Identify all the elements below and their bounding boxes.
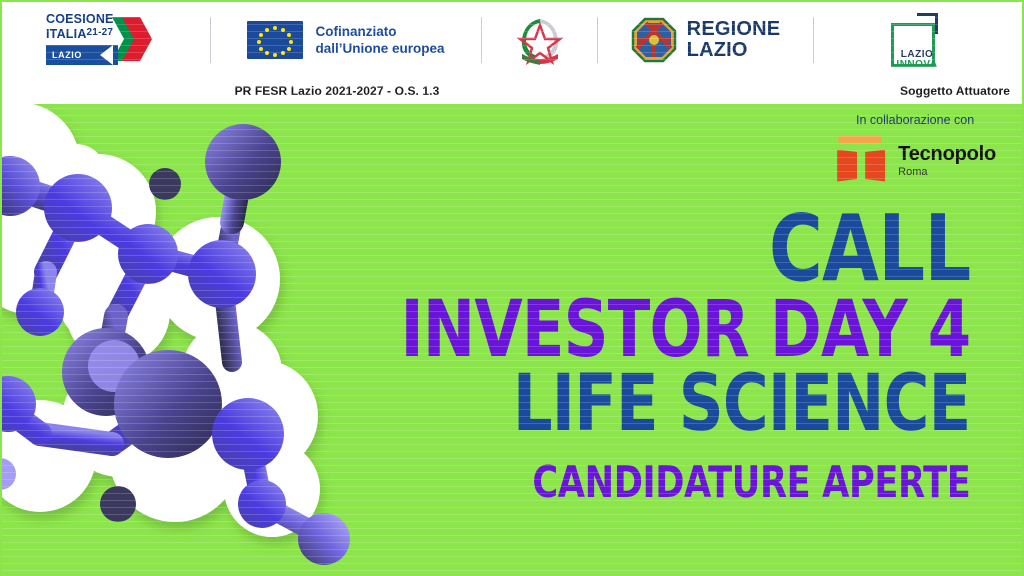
logo-repubblica-italiana <box>482 0 597 80</box>
eu-line2: dall’Unione europea <box>315 40 444 57</box>
tecnopolo-city: Roma <box>898 166 996 179</box>
headline-line-life: LIFE SCIENCE <box>400 368 970 441</box>
tecnopolo-left-shape <box>837 150 857 182</box>
repubblica-emblem-icon <box>516 12 564 68</box>
tecnopolo-mark-icon <box>834 136 890 182</box>
regione-lazio-line1: REGIONE <box>687 19 781 40</box>
headline-block: CALL INVESTOR DAY 4 LIFE SCIENCE CANDIDA… <box>258 206 970 504</box>
headline-line-call: CALL <box>400 206 970 292</box>
collaboration-block: In collaborazione con Tecnopolo Roma <box>834 114 996 182</box>
lazio-innova-bracket-icon <box>917 13 938 34</box>
logo-coesione-italia: COESIONE ITALIA21-27 LAZIO <box>0 0 210 80</box>
coesione-line2: ITALIA <box>46 27 87 41</box>
coesione-arrow-icon <box>100 45 113 65</box>
actor-caption: Soggetto Attuatore <box>900 84 1010 98</box>
coesione-chevron-red-icon <box>120 15 154 63</box>
regione-lazio-wordmark: REGIONE LAZIO <box>687 19 781 61</box>
logo-cofinanziato-ue: Cofinanziato dall’Unione europea <box>211 0 481 80</box>
regione-lazio-shield-icon <box>631 17 677 63</box>
programme-caption: PR FESR Lazio 2021-2027 - O.S. 1.3 <box>0 84 674 98</box>
call-banner: CALL INVESTOR DAY 4 LIFE SCIENCE CANDIDA… <box>0 0 1024 576</box>
logo-regione-lazio: REGIONE LAZIO <box>598 0 813 80</box>
headline-line-candidature: CANDIDATURE APERTE <box>400 463 970 504</box>
institutional-logo-bar: COESIONE ITALIA21-27 LAZIO <box>0 0 1024 104</box>
eu-flag-icon <box>247 21 303 59</box>
lazio-innova-line2: INNOVA <box>889 59 945 70</box>
tecnopolo-bar-shape <box>838 136 882 143</box>
tecnopolo-wordmark: Tecnopolo Roma <box>898 144 996 181</box>
tecnopolo-name: Tecnopolo <box>898 144 996 164</box>
coesione-line1: COESIONE <box>46 13 114 26</box>
regione-lazio-line2: LAZIO <box>687 40 781 61</box>
logo-lazio-innova: LAZIO INNOVA <box>814 0 1024 80</box>
collaboration-label: In collaborazione con <box>834 114 996 127</box>
tecnopolo-right-shape <box>865 150 885 182</box>
eu-wordmark: Cofinanziato dall’Unione europea <box>315 23 444 58</box>
eu-line1: Cofinanziato <box>315 23 444 40</box>
headline-line-investor: INVESTOR DAY 4 <box>400 294 970 367</box>
tecnopolo-logo: Tecnopolo Roma <box>834 136 996 182</box>
coesione-badge-label: LAZIO <box>46 50 82 60</box>
